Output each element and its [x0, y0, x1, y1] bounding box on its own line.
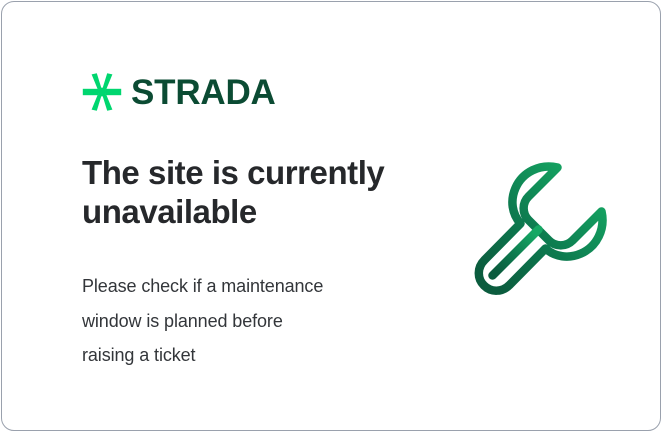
maintenance-illustration: [454, 150, 614, 310]
description-line: raising a ticket: [82, 338, 412, 373]
error-page-screen: STRADA The site is currently unavailable…: [0, 0, 666, 436]
brand-lockup: STRADA: [82, 70, 442, 114]
wrench-icon: [454, 150, 614, 310]
strada-asterisk-icon: [82, 72, 122, 112]
brand-wordmark: STRADA: [131, 75, 276, 110]
status-card: STRADA The site is currently unavailable…: [1, 1, 661, 431]
brand: STRADA: [82, 70, 442, 114]
page-title: The site is currently unavailable: [82, 154, 452, 231]
description-line: window is planned before: [82, 304, 412, 339]
page-description: Please check if a maintenance window is …: [82, 269, 412, 373]
description-line: Please check if a maintenance: [82, 269, 412, 304]
